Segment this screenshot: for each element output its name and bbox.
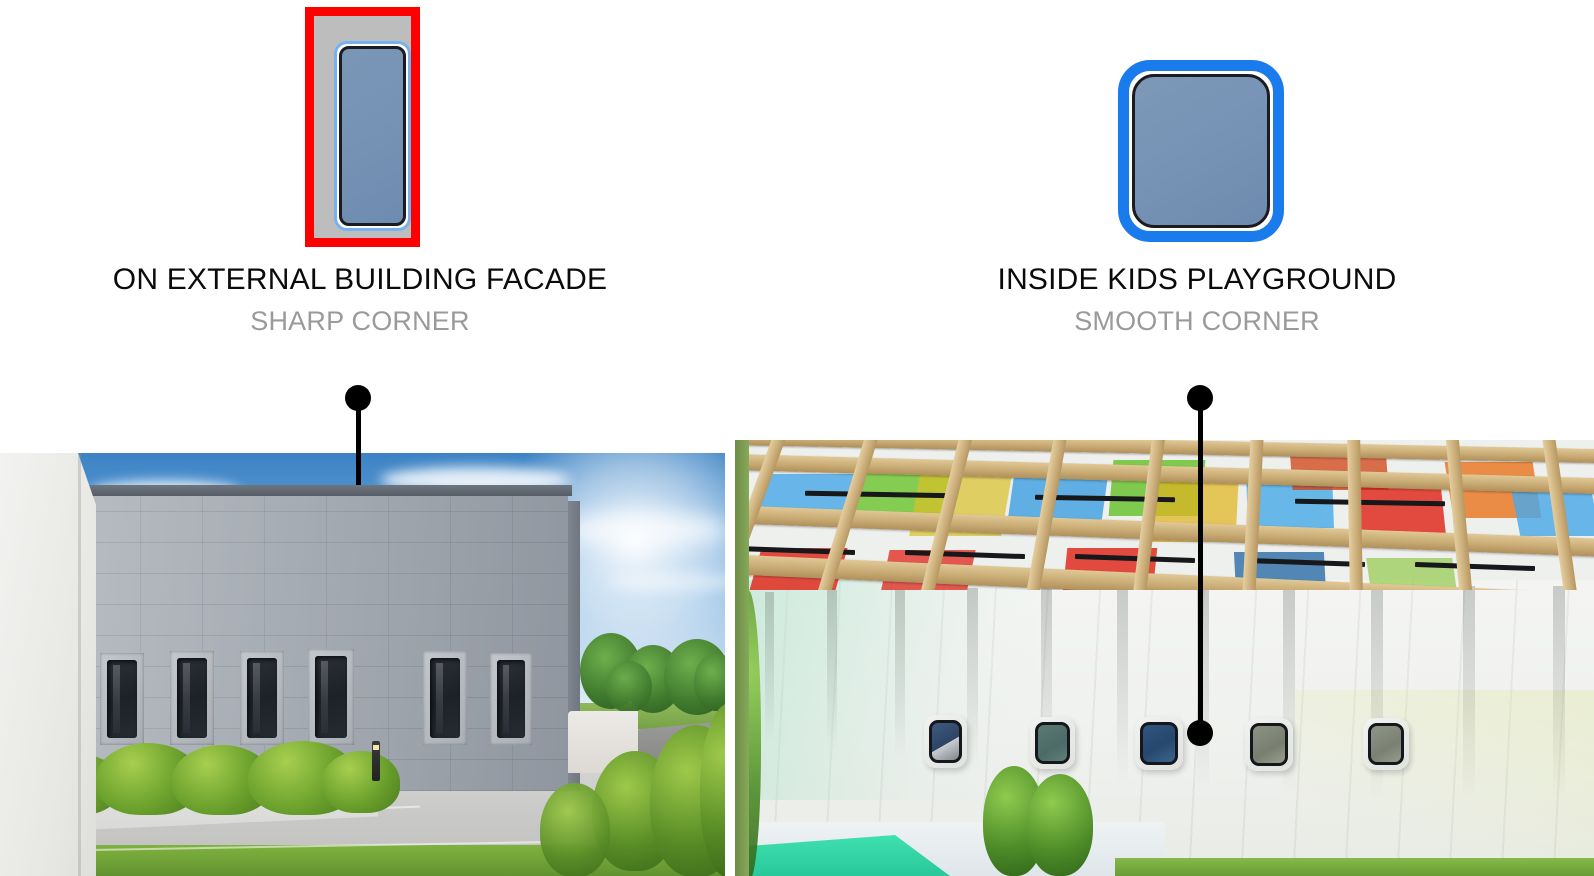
leader-right-line [1198,386,1203,734]
facade-window-2 [170,651,214,745]
playground-window-2 [1030,717,1075,769]
foreground-wall-edge [78,453,81,876]
sharp-window-glass [339,46,406,226]
kids-playground-photo [735,440,1594,876]
cloud [560,513,725,547]
smooth-window-glass [1132,74,1270,228]
playground-window-3 [1135,717,1183,770]
rafter-shadow [967,588,978,768]
comparison-board: ON EXTERNAL BUILDING FACADE SHARP CORNER… [0,0,1594,876]
caption-right-title: INSIDE KIDS PLAYGROUND [797,262,1594,298]
playground-window-4 [1245,718,1293,771]
external-building-facade-photo [0,453,725,876]
facade-window-3 [240,651,284,745]
rafter-shadow [1553,586,1565,798]
facade-window-1 [100,653,144,745]
leader-left-top-dot [345,385,371,411]
playground-grass [1115,858,1594,876]
caption-right-subtitle: SMOOTH CORNER [797,304,1594,338]
rafter-shadow [1463,586,1475,800]
playground-left-foliage-edge [735,440,749,876]
facade-window-5 [423,651,467,745]
caption-left: ON EXTERNAL BUILDING FACADE SHARP CORNER [0,262,720,338]
foreground-white-wall [0,453,96,876]
playground-window-5 [1363,718,1409,770]
facade-parapet-cap [74,485,572,496]
shrub [322,751,400,813]
caption-left-subtitle: SHARP CORNER [0,304,720,338]
timber-pergola [735,440,1594,590]
rafter-shadow [827,590,837,750]
smooth-highlight-outline [1118,60,1284,242]
foreground-bush [540,783,610,876]
rafter-shadow [765,592,774,742]
caption-right: INSIDE KIDS PLAYGROUND SMOOTH CORNER [797,262,1594,338]
caption-left-title: ON EXTERNAL BUILDING FACADE [0,262,720,298]
smooth-corner-window-swatch [1118,60,1284,242]
sharp-window-reveal [334,41,411,231]
rafter-shadow [895,590,905,760]
playground-window-1 [924,715,967,768]
facade-window-6 [490,653,532,745]
wall-green-reflection [735,580,1035,800]
rafter-shadow [1117,586,1128,782]
playground-plant [1027,774,1093,876]
leader-right-top-dot [1187,385,1213,411]
sharp-corner-window-swatch [305,7,420,247]
facade-window-4 [308,649,354,745]
bollard-light [372,741,380,781]
leader-right-bottom-dot [1187,720,1213,746]
sharp-highlight-outline [305,7,420,247]
photo-gutter [725,440,735,876]
tree [606,661,652,713]
wall-yellow-reflection [1295,690,1594,876]
